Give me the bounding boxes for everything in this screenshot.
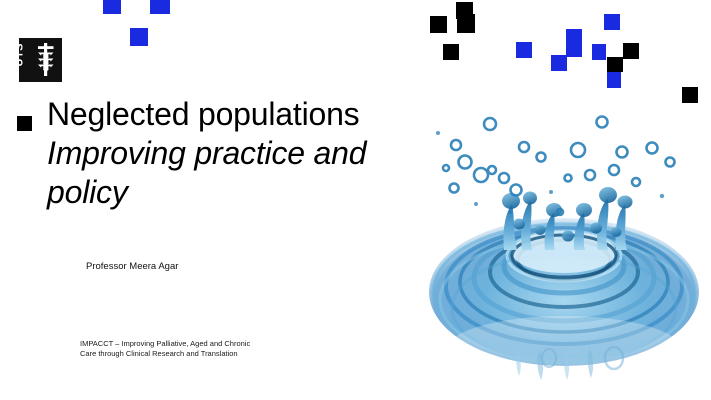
deco-square-blue-2: [150, 0, 170, 14]
deco-square-blue-9: [607, 70, 621, 88]
water-splash-image: [418, 100, 711, 384]
page-title: Neglected populations Improving practice…: [47, 95, 427, 212]
deco-square-blue-4: [516, 42, 532, 58]
presentation-slide: UTS Neglected populations Imp: [0, 0, 711, 400]
deco-square-blue-5: [551, 55, 567, 71]
deco-square-black-4: [443, 44, 459, 60]
deco-square-black-3: [457, 14, 475, 33]
uts-logo: UTS: [19, 38, 62, 82]
deco-square-black-5: [623, 43, 639, 59]
deco-square-blue-8: [592, 44, 606, 60]
deco-square-black-6: [607, 57, 623, 72]
deco-square-black-2: [430, 16, 447, 33]
footer-affiliation: IMPACCT – Improving Palliative, Aged and…: [80, 339, 340, 358]
footer-line-1: IMPACCT – Improving Palliative, Aged and…: [80, 339, 340, 349]
deco-square-blue-6: [566, 29, 582, 57]
title-line-primary: Neglected populations: [47, 95, 427, 134]
deco-square-blue-7: [604, 14, 620, 30]
deco-square-blue-1: [103, 0, 121, 14]
water-splash-graphic: [418, 100, 711, 384]
footer-line-2: Care through Clinical Research and Trans…: [80, 349, 340, 359]
uts-geometric-mark-icon: [34, 43, 58, 77]
deco-square-blue-3: [130, 28, 148, 46]
title-line-subtitle: Improving practice and policy: [47, 134, 427, 212]
presenter-name: Professor Meera Agar: [86, 260, 178, 273]
black-square-bullet-icon: [17, 116, 32, 131]
deco-square-black-7: [682, 87, 698, 103]
